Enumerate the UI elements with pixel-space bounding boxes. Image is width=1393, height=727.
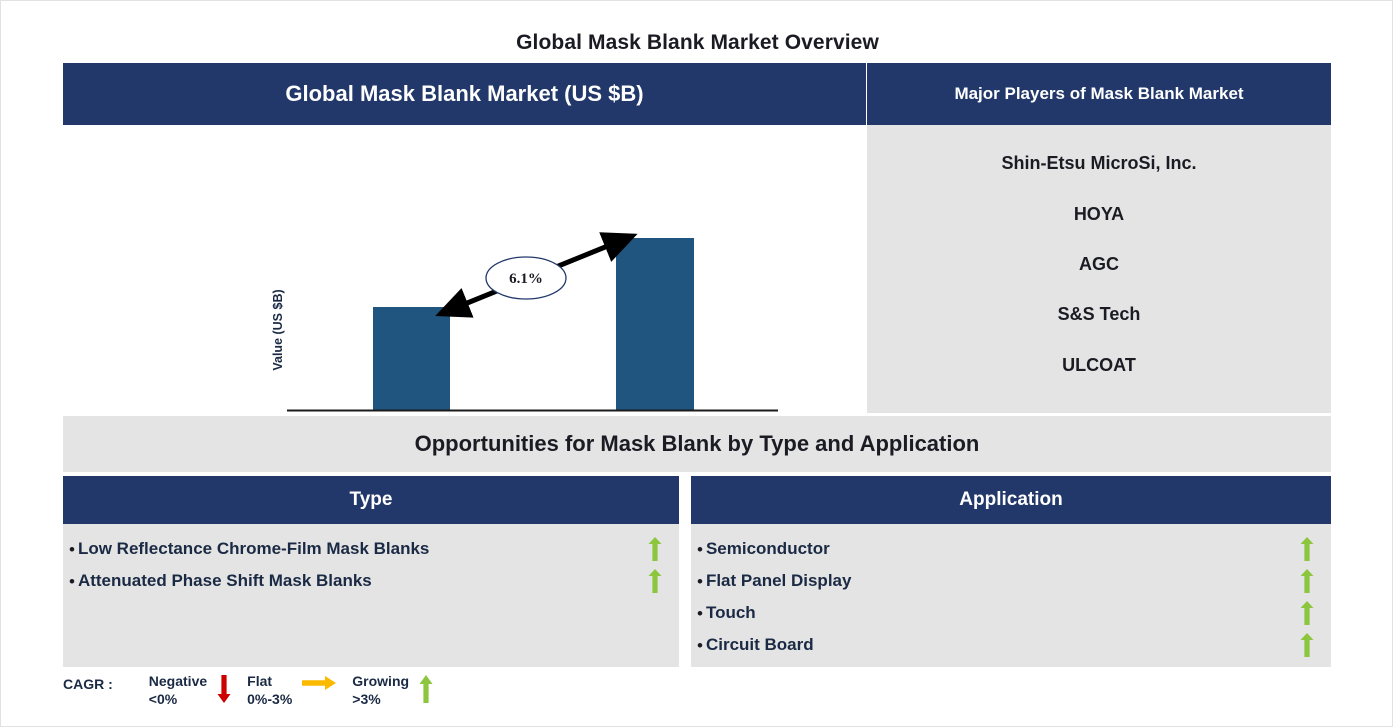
arrow-up-icon (1297, 633, 1317, 657)
cagr-growing-name: Growing (352, 673, 409, 691)
list-item: • Semiconductor (691, 533, 1331, 565)
type-panel-header: Type (63, 476, 679, 524)
slide-root: Global Mask Blank Market Overview Global… (0, 0, 1393, 727)
bullet-icon: • (697, 605, 703, 622)
type-panel: Type • Low Reflectance Chrome-Film Mask … (63, 476, 679, 667)
arrow-up-icon (645, 569, 665, 593)
application-item-label: Circuit Board (706, 635, 1297, 655)
cagr-legend-flat: Flat 0%-3% (247, 673, 346, 708)
list-item: AGC (1079, 255, 1119, 275)
arrow-up-icon (1297, 537, 1317, 561)
bar-2031 (616, 238, 694, 410)
list-item: Shin-Etsu MicroSi, Inc. (1001, 154, 1196, 174)
cagr-legend: CAGR : Negative <0% Flat 0%-3% Growing >… (63, 673, 449, 719)
bar-2025 (373, 307, 450, 410)
type-item-label: Low Reflectance Chrome-Film Mask Blanks (78, 539, 645, 559)
application-list: • Semiconductor • Flat Panel Display • T… (691, 524, 1331, 661)
list-item: • Circuit Board (691, 629, 1331, 661)
cagr-callout-value: 6.1% (509, 271, 543, 287)
list-item: • Attenuated Phase Shift Mask Blanks (63, 565, 679, 597)
application-item-label: Touch (706, 603, 1297, 623)
arrow-up-icon (1297, 601, 1317, 625)
arrow-right-icon (302, 675, 336, 694)
type-item-label: Attenuated Phase Shift Mask Blanks (78, 571, 645, 591)
application-item-label: Flat Panel Display (706, 571, 1297, 591)
major-players-card: Major Players of Mask Blank Market Shin-… (867, 63, 1331, 413)
list-item: • Touch (691, 597, 1331, 629)
cagr-flat-name: Flat (247, 673, 292, 691)
cagr-legend-label: CAGR : (63, 673, 113, 692)
bullet-icon: • (697, 573, 703, 590)
cagr-negative-range: <0% (149, 691, 207, 709)
players-card-header: Major Players of Mask Blank Market (867, 63, 1331, 125)
bullet-icon: • (697, 541, 703, 558)
arrow-up-icon (645, 537, 665, 561)
opportunities-banner: Opportunities for Mask Blank by Type and… (63, 416, 1331, 472)
page-title: Global Mask Blank Market Overview (1, 31, 1393, 55)
arrow-up-icon (1297, 569, 1317, 593)
bullet-icon: • (69, 541, 75, 558)
players-list: Shin-Etsu MicroSi, Inc. HOYA AGC S&S Tec… (867, 125, 1331, 413)
market-chart-card: Global Mask Blank Market (US $B) Value (… (63, 63, 866, 413)
list-item: ULCOAT (1062, 356, 1136, 376)
application-item-label: Semiconductor (706, 539, 1297, 559)
cagr-legend-negative: Negative <0% (149, 673, 241, 708)
bullet-icon: • (697, 637, 703, 654)
cagr-flat-range: 0%-3% (247, 691, 292, 709)
list-item: • Low Reflectance Chrome-Film Mask Blank… (63, 533, 679, 565)
list-item: S&S Tech (1058, 305, 1141, 325)
cagr-legend-growing: Growing >3% (352, 673, 443, 708)
list-item: HOYA (1074, 205, 1124, 225)
cagr-negative-name: Negative (149, 673, 207, 691)
bullet-icon: • (69, 573, 75, 590)
type-list: • Low Reflectance Chrome-Film Mask Blank… (63, 524, 679, 597)
application-panel-header: Application (691, 476, 1331, 524)
list-item: • Flat Panel Display (691, 565, 1331, 597)
chart-card-header: Global Mask Blank Market (US $B) (63, 63, 866, 125)
application-panel: Application • Semiconductor • Flat Panel… (691, 476, 1331, 667)
y-axis-label: Value (US $B) (271, 289, 285, 370)
arrow-down-icon (217, 675, 231, 706)
arrow-up-icon (419, 675, 433, 706)
cagr-growing-range: >3% (352, 691, 409, 709)
bar-chart: Value (US $B) 6.1% 2025 2031 Source : Lu… (63, 125, 866, 413)
